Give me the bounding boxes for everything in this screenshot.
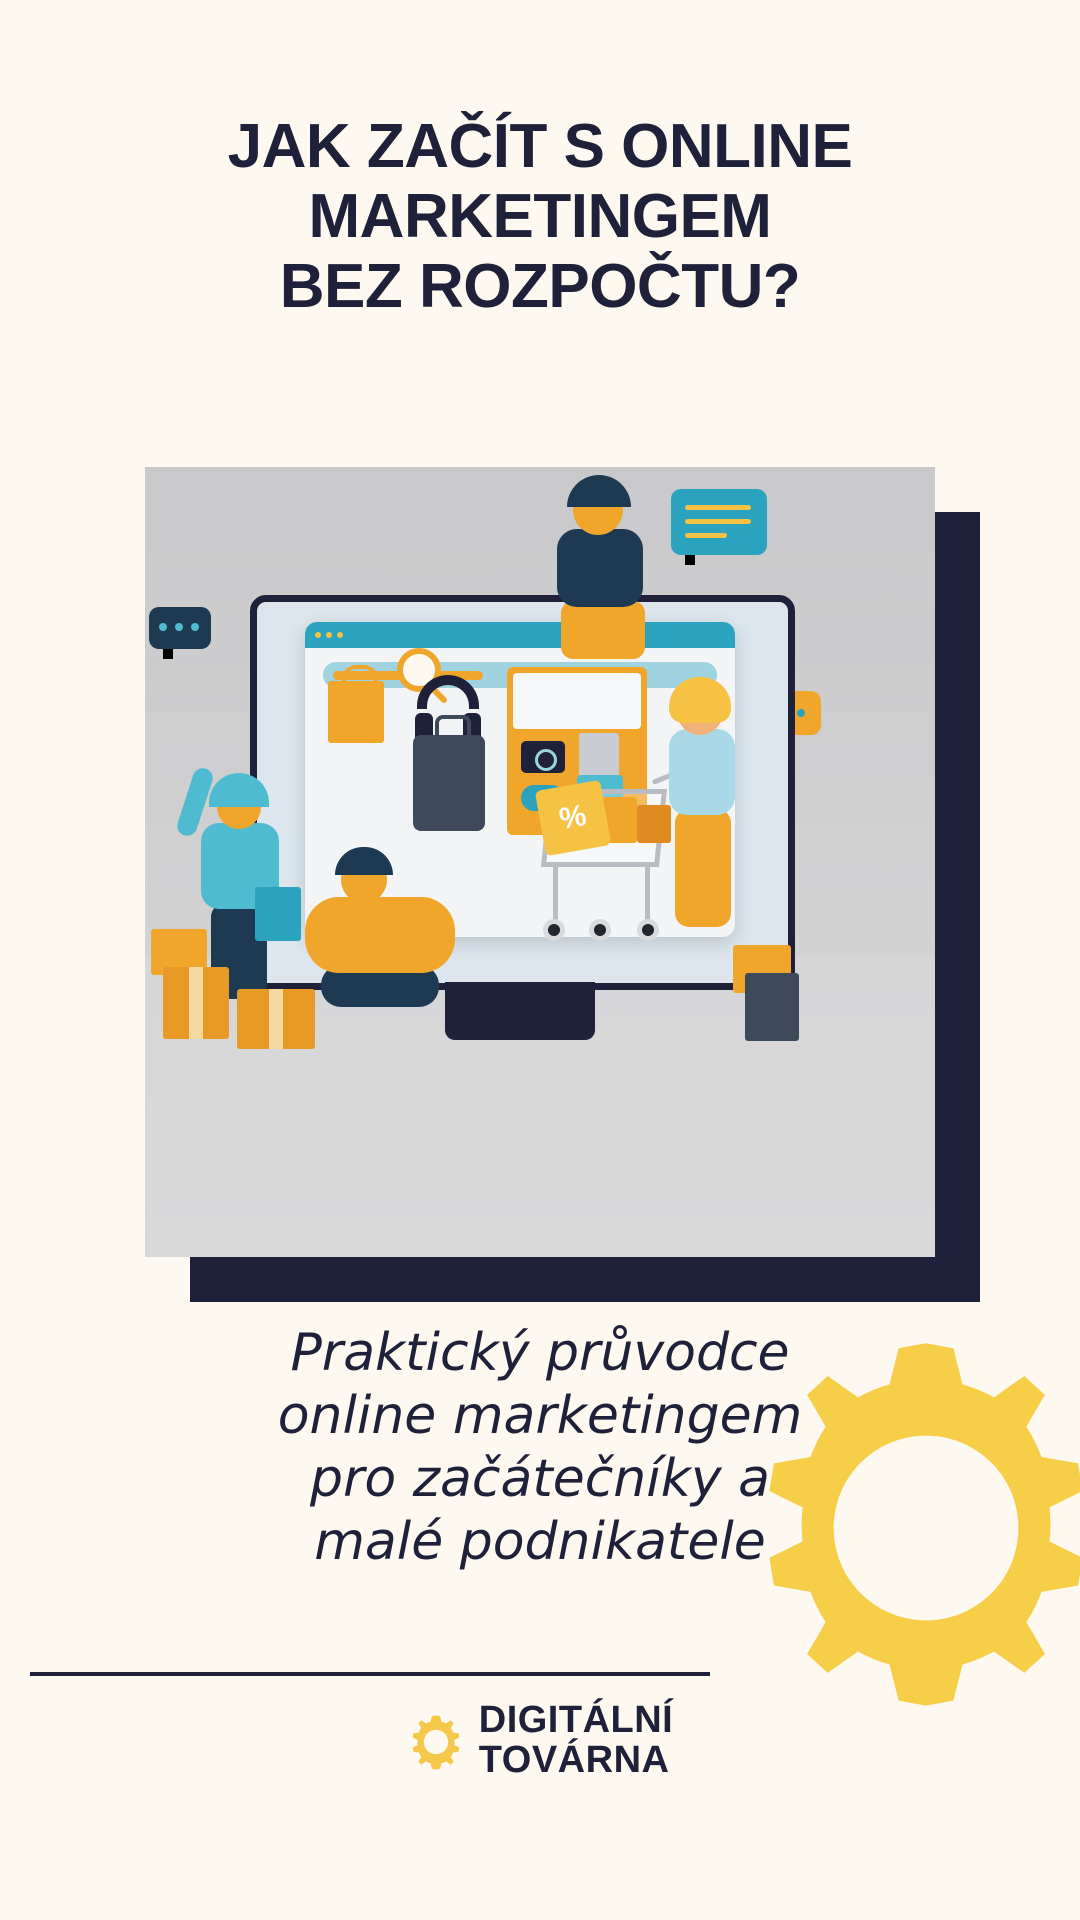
character-right-body [669,729,735,815]
cart-wheel [589,919,611,941]
gift-bag-icon [579,733,619,779]
divider [30,1672,710,1676]
chat-bubble-icon [149,607,211,649]
page-title: JAK ZAČÍT S ONLINE MARKETINGEM BEZ ROZPO… [0,112,1080,322]
parcel-box [237,989,315,1049]
suitcase-icon [413,735,485,831]
character-sitting-body [305,897,455,973]
parcel-box [163,967,229,1039]
browser-titlebar [305,622,735,648]
character-top-legs [561,601,645,659]
title-line-1: JAK ZAČÍT S ONLINE [60,112,1020,182]
shopping-bag-icon [328,681,384,743]
gear-icon [716,1318,1080,1738]
discount-badge: % [535,780,611,856]
camera-icon [521,741,565,773]
cart-wheel [543,919,565,941]
monitor-stand [445,982,595,1040]
gift-bag-icon [745,973,799,1041]
character-top-body [557,529,643,607]
hero-illustration: % [145,467,935,1257]
brand-logo: DIGITÁLNÍ TOVÁRNA [0,1700,1080,1780]
brand-logo-line-1: DIGITÁLNÍ [479,1700,673,1740]
cart-item [637,805,671,843]
gear-icon [407,1713,465,1771]
title-line-2: MARKETINGEM [60,182,1020,252]
hero-image-block: % [145,467,935,1257]
character-left-shopping-bag [255,887,301,941]
cart-wheel [637,919,659,941]
character-right-legs [675,809,731,927]
brand-logo-line-2: TOVÁRNA [479,1740,673,1780]
brand-logo-text: DIGITÁLNÍ TOVÁRNA [479,1700,673,1780]
title-line-3: BEZ ROZPOČTU? [60,252,1020,322]
chat-bubble-icon [671,489,767,555]
